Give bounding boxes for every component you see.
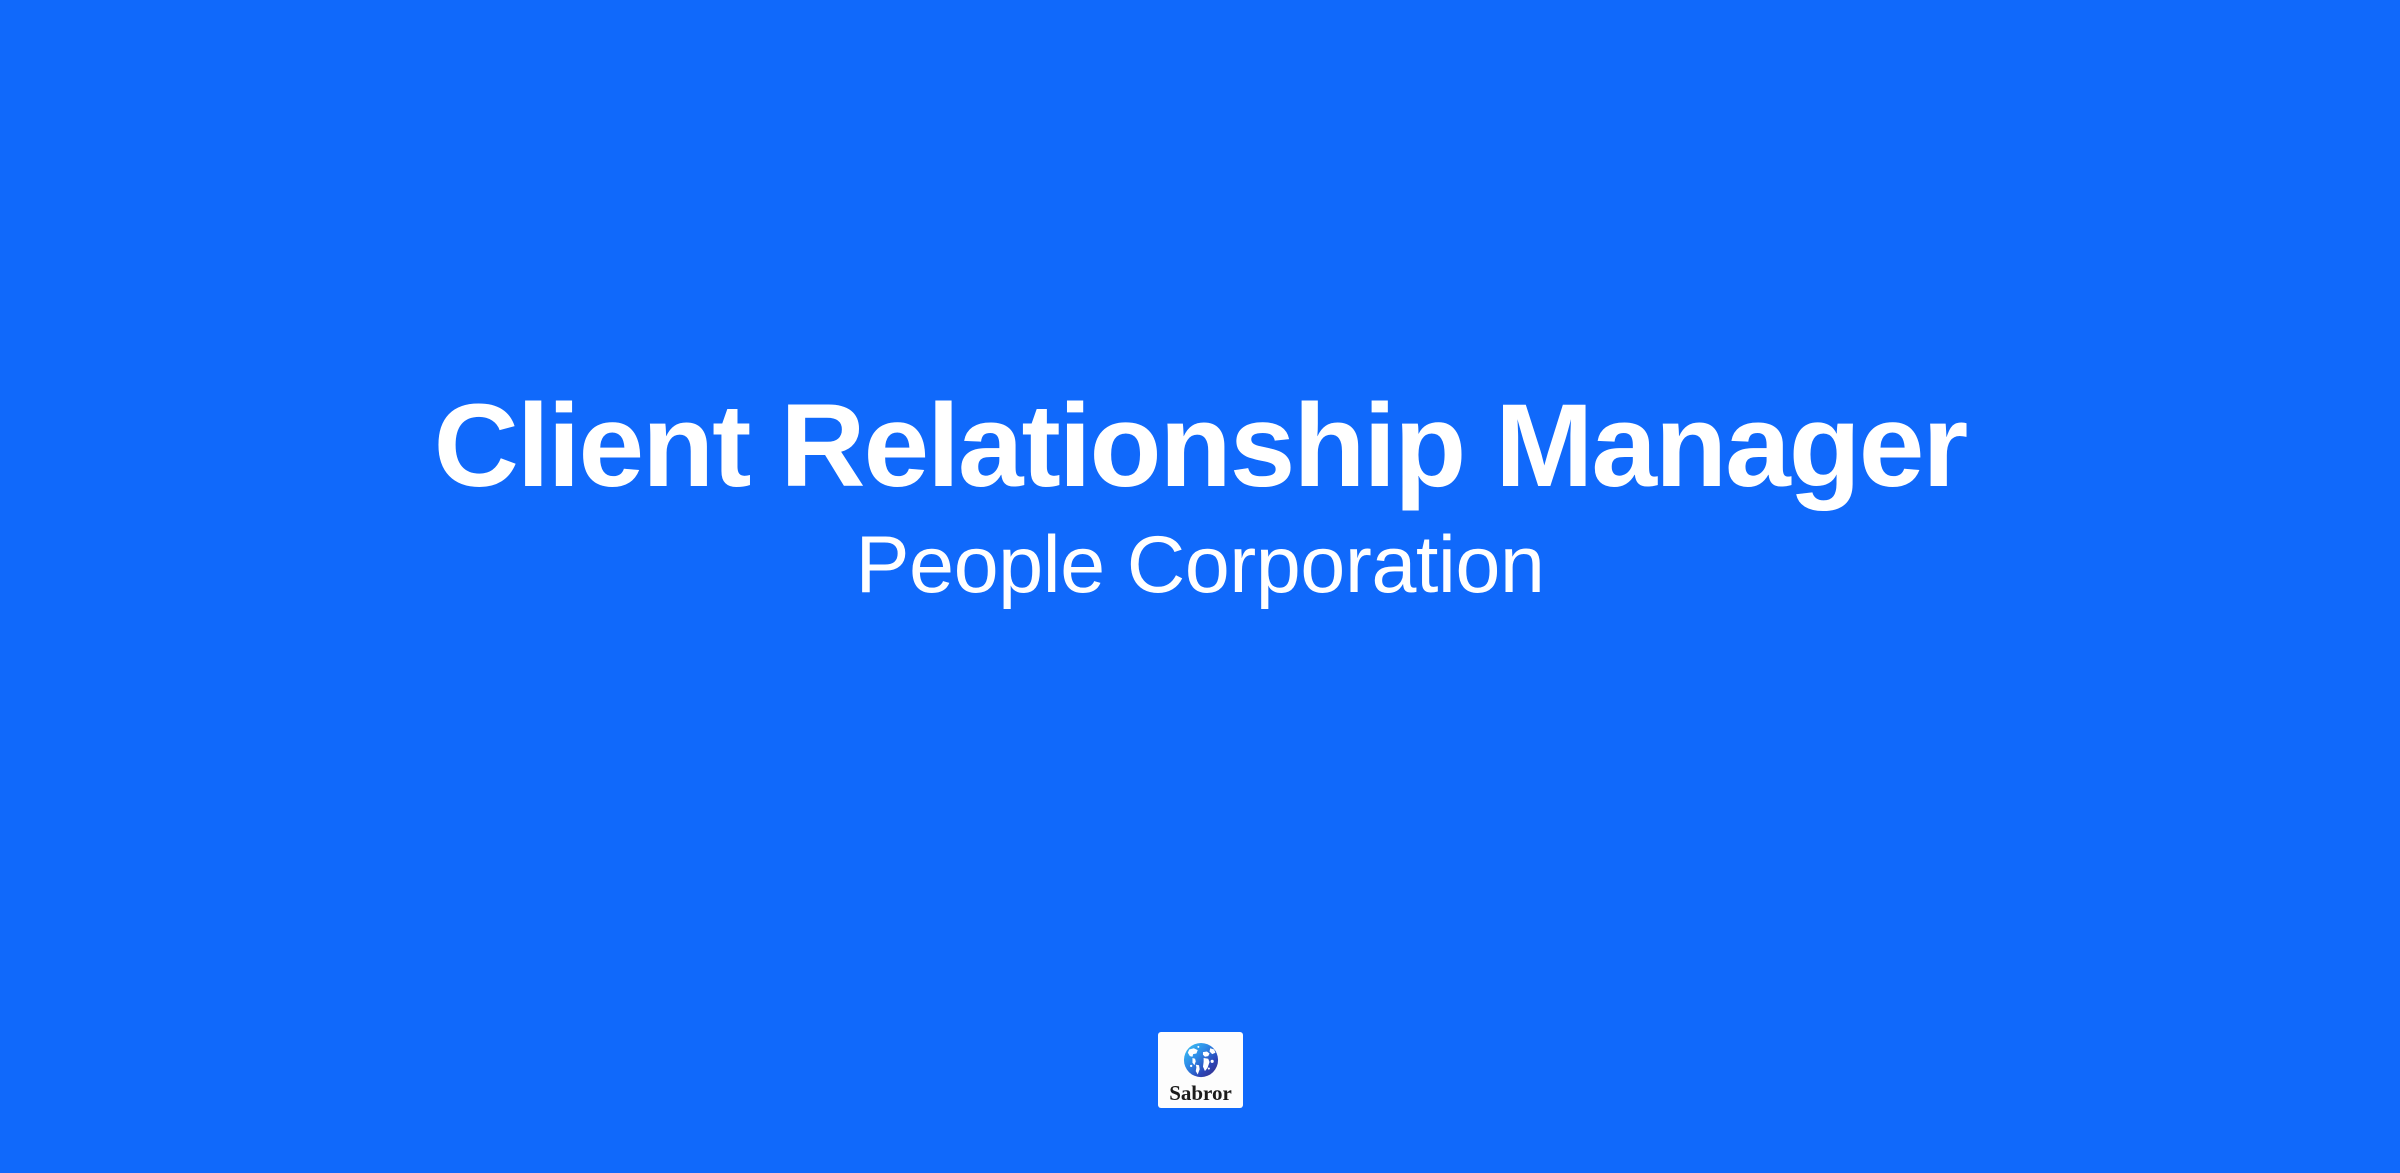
page-subtitle: People Corporation [0,508,2400,608]
title-slide: Client Relationship Manager People Corpo… [0,0,2400,1173]
globe-icon [1180,1039,1222,1081]
hero-text-block: Client Relationship Manager People Corpo… [0,384,2400,608]
brand-logo: Sabror [1158,1032,1243,1108]
page-title: Client Relationship Manager [0,384,2400,508]
brand-wordmark: Sabror [1169,1082,1232,1104]
